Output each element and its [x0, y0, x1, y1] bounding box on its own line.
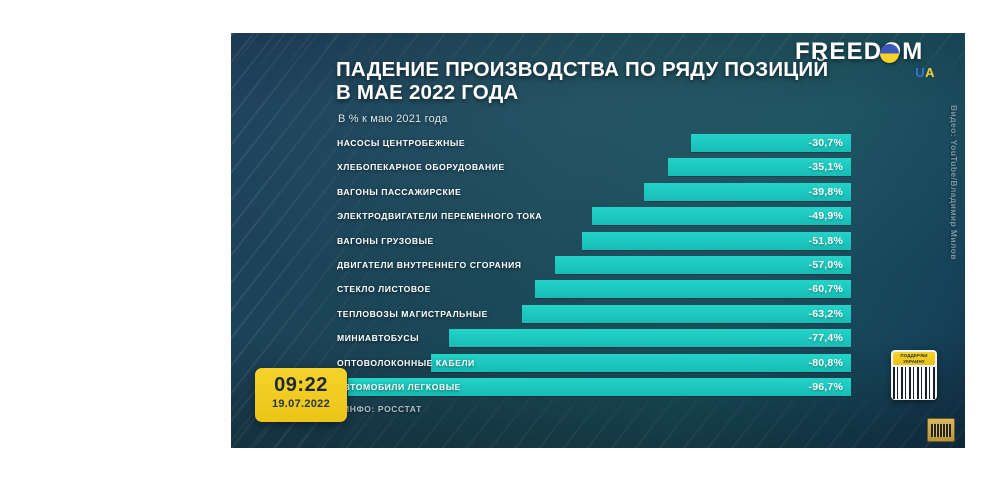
bar-value-label: -49,9%: [809, 207, 843, 225]
bar-value-label: -35,1%: [809, 158, 843, 176]
chart-row: -77,4%МИНИАВТОБУСЫ: [331, 326, 851, 350]
headline-line-2: В МАЕ 2022 ГОДА: [336, 81, 866, 104]
chart-row: -39,8%ВАГОНЫ ПАССАЖИРСКИЕ: [331, 180, 851, 204]
bar: [449, 329, 851, 347]
channel-logo-text: FREEDOM: [795, 39, 947, 65]
channel-logo: FREEDOM UA: [795, 39, 947, 85]
bar-value-label: -57,0%: [809, 256, 843, 274]
chart-row: -63,2%ТЕПЛОВОЗЫ МАГИСТРАЛЬНЫЕ: [331, 302, 851, 326]
bar: [535, 280, 851, 298]
chart-subtitle: В % к маю 2021 года: [338, 113, 448, 125]
bar-category-label: ТЕПЛОВОЗЫ МАГИСТРАЛЬНЫЕ: [337, 305, 488, 323]
bar-value-label: -80,8%: [809, 354, 843, 372]
chart-row: -80,8%ОПТОВОЛОКОННЫЕ КАБЕЛИ: [331, 351, 851, 375]
channel-logo-country: UA: [915, 65, 935, 80]
bar-chart: -30,7%НАСОСЫ ЦЕНТРОБЕЖНЫЕ-35,1%ХЛЕБОПЕКА…: [331, 131, 851, 399]
support-banner: ПОДДЕРЖИ УКРАИНУ: [893, 352, 935, 365]
bar-category-label: ЭЛЕКТРОДВИГАТЕЛИ ПЕРЕМЕННОГО ТОКА: [337, 207, 542, 225]
corner-watermark-glyph: [931, 424, 951, 437]
bar-category-label: ХЛЕБОПЕКАРНОЕ ОБОРУДОВАНИЕ: [337, 158, 505, 176]
bar-value-label: -96,7%: [809, 378, 843, 396]
chart-row: -51,8%ВАГОНЫ ГРУЗОВЫЕ: [331, 229, 851, 253]
clock-time: 09:22: [255, 374, 347, 397]
page-title: ПАДЕНИЕ ПРОИЗВОДСТВА ПО РЯДУ ПОЗИЦИЙ В М…: [336, 58, 866, 104]
bar-value-label: -51,8%: [809, 232, 843, 250]
bar-category-label: АВТОМОБИЛИ ЛЕГКОВЫЕ: [337, 378, 461, 396]
chart-row: -57,0%ДВИГАТЕЛИ ВНУТРЕННЕГО СГОРАНИЯ: [331, 253, 851, 277]
bar-value-label: -77,4%: [809, 329, 843, 347]
chart-row: -49,9%ЭЛЕКТРОДВИГАТЕЛИ ПЕРЕМЕННОГО ТОКА: [331, 204, 851, 228]
video-credit: Видео: YouTube/Владимир Милов: [949, 105, 959, 260]
bar: [522, 305, 851, 323]
bar: [431, 354, 851, 372]
ukraine-flag-icon: [880, 44, 899, 63]
bar-value-label: -30,7%: [809, 134, 843, 152]
bar: [555, 256, 851, 274]
bar-category-label: ОПТОВОЛОКОННЫЕ КАБЕЛИ: [337, 354, 475, 372]
bar-category-label: МИНИАВТОБУСЫ: [337, 329, 419, 347]
support-banner-line-2: УКРАИНУ: [893, 359, 935, 365]
bar-category-label: ВАГОНЫ ГРУЗОВЫЕ: [337, 232, 434, 250]
source-label: ИНФО: РОССТАТ: [343, 404, 422, 414]
bar-category-label: СТЕКЛО ЛИСТОВОЕ: [337, 280, 431, 298]
headline-line-1: ПАДЕНИЕ ПРОИЗВОДСТВА ПО РЯДУ ПОЗИЦИЙ: [336, 58, 828, 81]
bar-category-label: ВАГОНЫ ПАССАЖИРСКИЕ: [337, 183, 461, 201]
qr-code-icon: [893, 367, 935, 399]
broadcast-video-frame: ПАДЕНИЕ ПРОИЗВОДСТВА ПО РЯДУ ПОЗИЦИЙ В М…: [231, 33, 965, 448]
bar-value-label: -39,8%: [809, 183, 843, 201]
bar-category-label: НАСОСЫ ЦЕНТРОБЕЖНЫЕ: [337, 134, 465, 152]
corner-watermark-icon: [927, 418, 955, 442]
chart-row: -30,7%НАСОСЫ ЦЕНТРОБЕЖНЫЕ: [331, 131, 851, 155]
clock-badge: 09:22 19.07.2022: [255, 368, 347, 422]
bar-category-label: ДВИГАТЕЛИ ВНУТРЕННЕГО СГОРАНИЯ: [337, 256, 522, 274]
chart-row: -96,7%АВТОМОБИЛИ ЛЕГКОВЫЕ: [331, 375, 851, 399]
chart-row: -35,1%ХЛЕБОПЕКАРНОЕ ОБОРУДОВАНИЕ: [331, 155, 851, 179]
bar-value-label: -63,2%: [809, 305, 843, 323]
support-ukraine-qr-badge[interactable]: ПОДДЕРЖИ УКРАИНУ: [891, 350, 937, 400]
clock-date: 19.07.2022: [255, 398, 347, 410]
chart-row: -60,7%СТЕКЛО ЛИСТОВОЕ: [331, 277, 851, 301]
bar-value-label: -60,7%: [809, 280, 843, 298]
